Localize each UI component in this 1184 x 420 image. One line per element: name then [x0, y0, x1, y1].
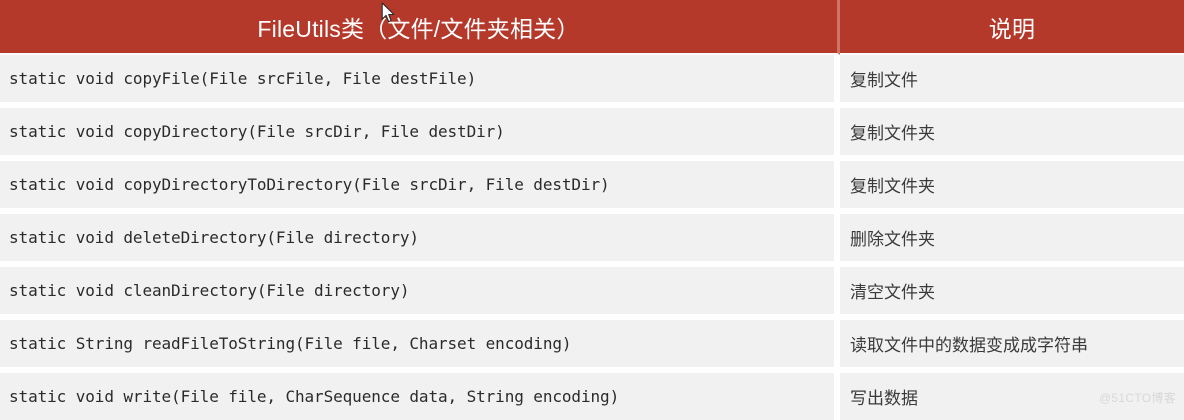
cell-method-signature: static void deleteDirectory(File directo…	[0, 214, 840, 267]
cell-method-signature: static void copyDirectory(File srcDir, F…	[0, 108, 840, 161]
table-row: static void copyDirectory(File srcDir, F…	[0, 108, 1184, 161]
table-container: FileUtils类（文件/文件夹相关） 说明 static void copy…	[0, 0, 1184, 410]
table-row: static String readFileToString(File file…	[0, 320, 1184, 373]
table-row: static void write(File file, CharSequenc…	[0, 373, 1184, 420]
cell-method-description: 复制文件夹	[840, 108, 1184, 161]
column-header-signature: FileUtils类（文件/文件夹相关）	[0, 0, 840, 55]
cell-method-description: 复制文件	[840, 55, 1184, 108]
cell-method-description: 清空文件夹	[840, 267, 1184, 320]
cell-method-description: 删除文件夹	[840, 214, 1184, 267]
cell-method-signature: static void write(File file, CharSequenc…	[0, 373, 840, 420]
table-body: static void copyFile(File srcFile, File …	[0, 55, 1184, 420]
table-row: static void deleteDirectory(File directo…	[0, 214, 1184, 267]
fileutils-api-table: FileUtils类（文件/文件夹相关） 说明 static void copy…	[0, 0, 1184, 420]
cell-method-signature: static void copyDirectoryToDirectory(Fil…	[0, 161, 840, 214]
column-header-description: 说明	[840, 0, 1184, 55]
cell-method-description: 读取文件中的数据变成成字符串	[840, 320, 1184, 373]
table-row: static void cleanDirectory(File director…	[0, 267, 1184, 320]
cell-method-description: 写出数据	[840, 373, 1184, 420]
cell-method-signature: static String readFileToString(File file…	[0, 320, 840, 373]
cell-method-signature: static void copyFile(File srcFile, File …	[0, 55, 840, 108]
table-row: static void copyDirectoryToDirectory(Fil…	[0, 161, 1184, 214]
table-row: static void copyFile(File srcFile, File …	[0, 55, 1184, 108]
table-header-row: FileUtils类（文件/文件夹相关） 说明	[0, 0, 1184, 55]
table-head: FileUtils类（文件/文件夹相关） 说明	[0, 0, 1184, 55]
cell-method-signature: static void cleanDirectory(File director…	[0, 267, 840, 320]
cell-method-description: 复制文件夹	[840, 161, 1184, 214]
